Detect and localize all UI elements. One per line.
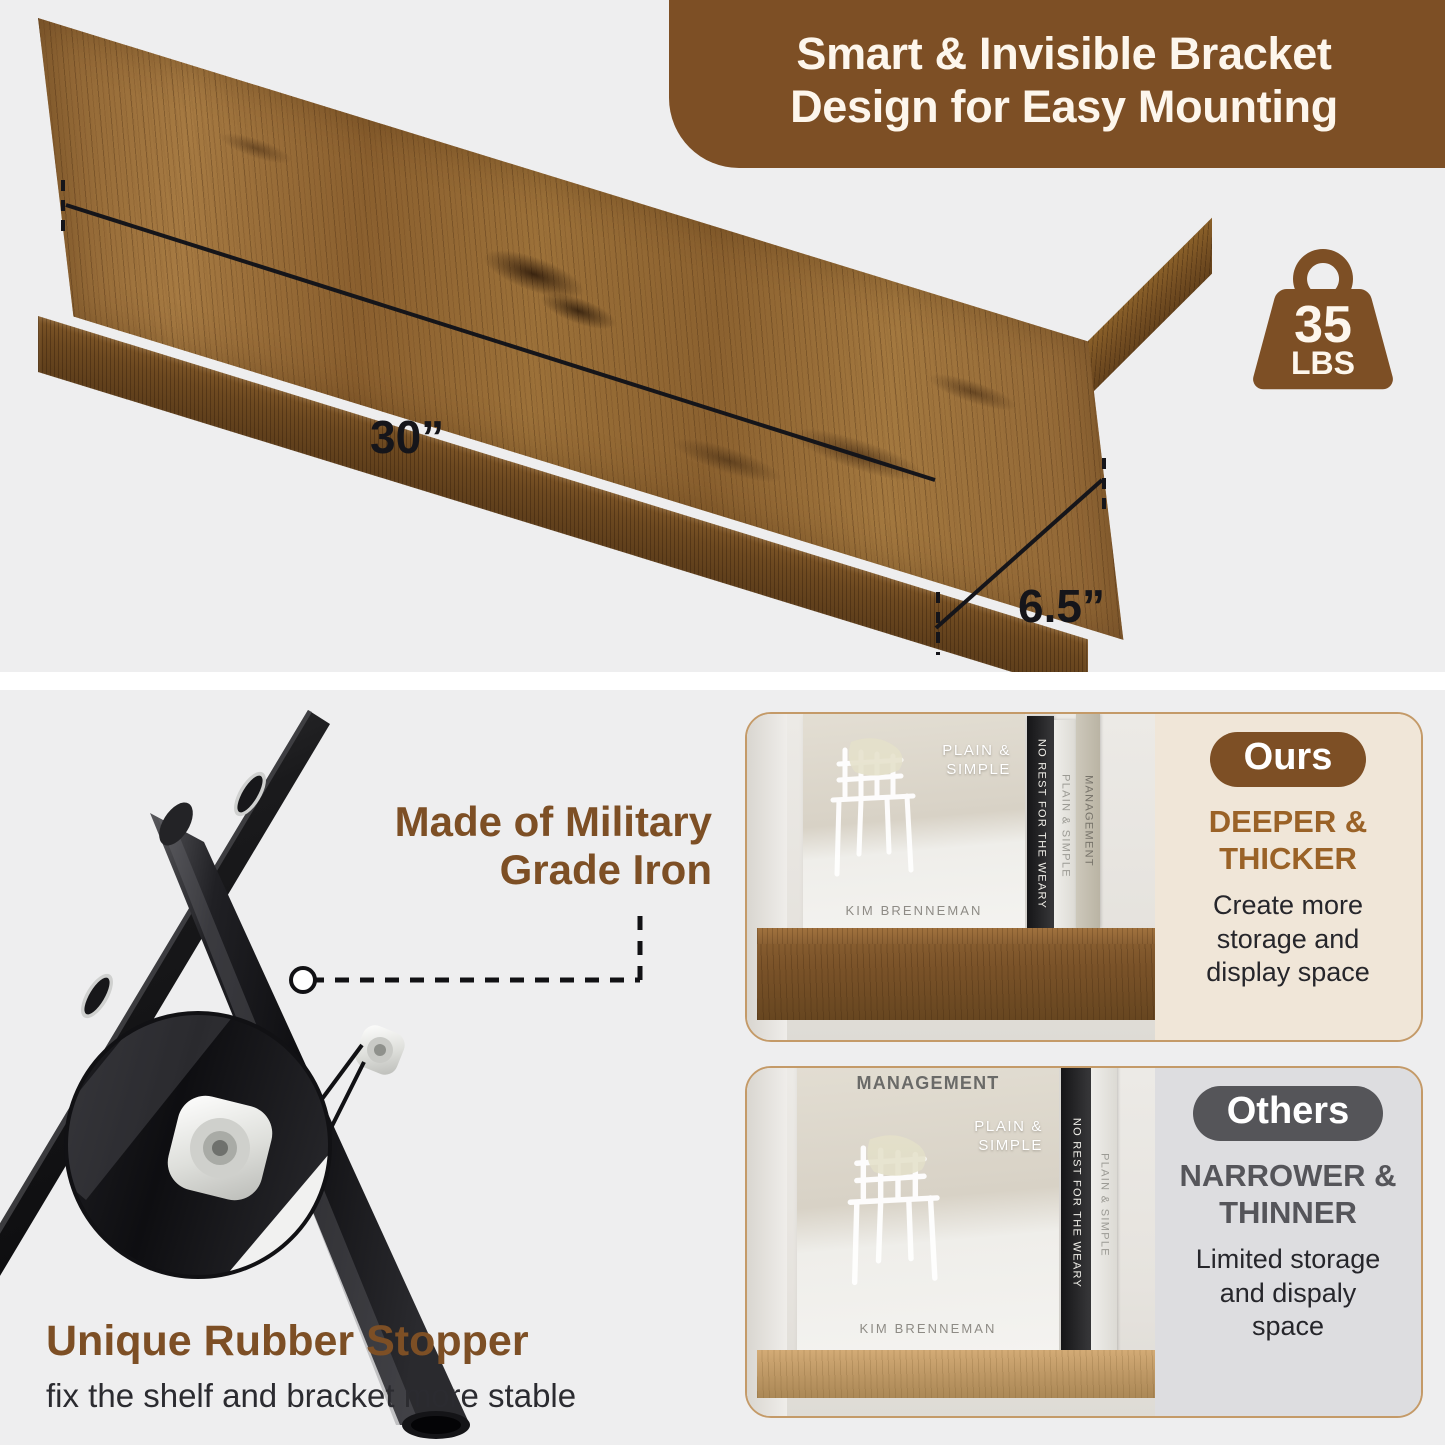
others-photo: MANAGEMENT PLAIN & S [747,1068,1155,1416]
others-book-author: KIM BRENNEMAN [797,1321,1059,1336]
others-desc-line1: Limited storage [1196,1243,1381,1276]
ours-book-title-line1: PLAIN & [942,742,1011,761]
ours-book-cover: PLAIN & SIMPLE KIM BRENNEMAN [803,714,1025,932]
product-infographic: 30” 6.5” 35 LBS Smart & Invisible Bracke… [0,0,1445,1445]
ours-spine-2-text: PLAIN & SIMPLE [1060,774,1071,878]
header-title-line1: Smart & Invisible Bracket [790,27,1338,80]
chair-graphic [817,734,937,884]
ours-spine-1-text: NO REST FOR THE WEARY [1035,739,1046,909]
header-title-line2: Design for Easy Mounting [790,80,1338,133]
ours-spine-1: NO REST FOR THE WEARY [1027,716,1054,932]
others-desc-line2: and dispaly [1196,1277,1381,1310]
ours-book-author: KIM BRENNEMAN [803,903,1025,918]
stopper-subtitle: fix the shelf and bracket more stable [46,1378,576,1414]
ours-spine-3-text: MANAGEMENT [1083,775,1094,867]
material-headline-line2: Grade Iron [320,846,712,894]
ours-spine-3: MANAGEMENT [1076,714,1100,928]
ours-headline-line2: THICKER [1209,840,1367,877]
top-panel-shelf-dimensions: 30” 6.5” 35 LBS Smart & Invisible Bracke… [0,0,1445,672]
ours-shelf-thick [757,928,1155,1020]
others-scene: MANAGEMENT PLAIN & S [747,1068,1155,1416]
weight-capacity-badge: 35 LBS [1243,243,1403,395]
others-badge: Others [1193,1086,1383,1141]
ours-headline: DEEPER & THICKER [1209,803,1367,877]
others-spine-1: NO REST FOR THE WEARY [1061,1068,1091,1352]
bottom-panel-features: Made of Military Grade Iron Unique Rubbe… [0,690,1445,1445]
ours-info: Ours DEEPER & THICKER Create more storag… [1155,714,1421,1040]
comparison-card-ours: PLAIN & SIMPLE KIM BRENNEMAN NO REST FOR… [745,712,1423,1042]
others-headline-line1: NARROWER & [1180,1157,1397,1194]
ours-badge: Ours [1210,732,1367,787]
ours-scene: PLAIN & SIMPLE KIM BRENNEMAN NO REST FOR… [747,714,1155,1040]
others-spine-2-text: PLAIN & SIMPLE [1099,1153,1110,1257]
ours-desc-line3: display space [1206,956,1370,989]
others-headline-line2: THINNER [1180,1194,1397,1231]
ours-headline-line1: DEEPER & [1209,803,1367,840]
others-spine-2: PLAIN & SIMPLE [1091,1068,1117,1352]
weight-value: 35 [1243,299,1403,351]
others-desc-line3: space [1196,1310,1381,1343]
ours-photo: PLAIN & SIMPLE KIM BRENNEMAN NO REST FOR… [747,714,1155,1040]
material-headline-line1: Made of Military [320,798,712,846]
others-book-title-line1: PLAIN & [974,1118,1043,1137]
others-book-cover: MANAGEMENT PLAIN & S [797,1068,1059,1354]
material-leader-line [291,912,640,992]
ours-spine-2: PLAIN & SIMPLE [1054,720,1076,932]
chair-graphic [833,1128,963,1296]
ours-description: Create more storage and display space [1206,889,1370,989]
stopper-headline: Unique Rubber Stopper [46,1318,529,1365]
comparison-card-others: MANAGEMENT PLAIN & S [745,1066,1423,1418]
header-banner: Smart & Invisible Bracket Design for Eas… [669,0,1445,168]
header-title: Smart & Invisible Bracket Design for Eas… [790,27,1338,133]
bracket-illustration-area: Made of Military Grade Iron Unique Rubbe… [0,690,730,1445]
others-info: Others NARROWER & THINNER Limited storag… [1155,1068,1421,1416]
ours-book-title: PLAIN & SIMPLE [942,742,1011,780]
others-shelf-thin [757,1350,1155,1398]
others-description: Limited storage and dispaly space [1196,1243,1381,1343]
weight-unit: LBS [1243,347,1403,379]
others-book-title: PLAIN & SIMPLE [974,1118,1043,1156]
others-book-title-line2: SIMPLE [974,1137,1043,1156]
others-book-title-top: MANAGEMENT [797,1072,1059,1095]
ours-desc-line2: storage and [1206,923,1370,956]
shelf-end-cap [1088,218,1212,397]
others-headline: NARROWER & THINNER [1180,1157,1397,1231]
ours-desc-line1: Create more [1206,889,1370,922]
others-spine-1-text: NO REST FOR THE WEARY [1071,1118,1082,1288]
material-headline: Made of Military Grade Iron [320,798,712,894]
ours-book-title-line2: SIMPLE [942,761,1011,780]
